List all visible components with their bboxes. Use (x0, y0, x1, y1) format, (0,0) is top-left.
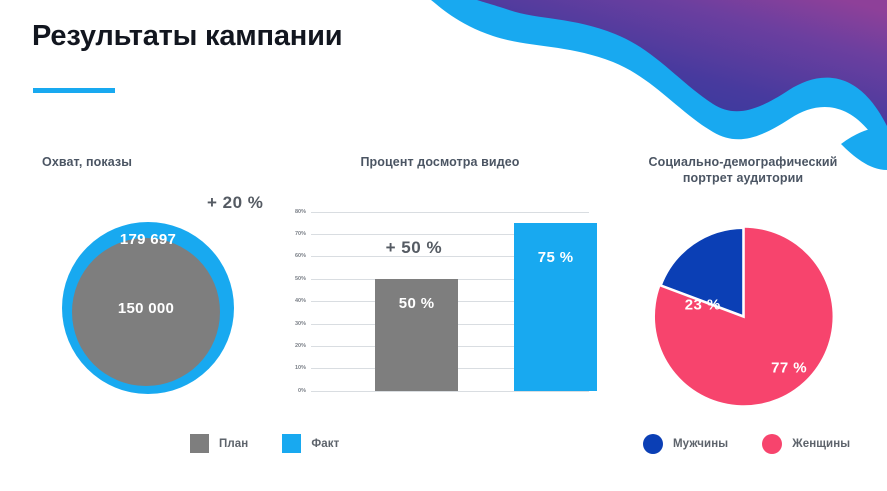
y-tick-label: 20% (295, 343, 306, 349)
legend-gender: Мужчины Женщины (643, 434, 850, 454)
legend-item-plan[interactable]: План (190, 434, 248, 453)
wave-decoration (417, 0, 887, 170)
y-tick-label: 30% (295, 321, 306, 327)
chart-title-demographics-line1: Социально-демографический (599, 155, 887, 171)
y-tick-label: 40% (295, 298, 306, 304)
bar-plot-area: 80% 70% 60% 50% 40% 30% (311, 212, 589, 391)
gridline: 80% (311, 212, 589, 213)
legend-swatch-female-icon (762, 434, 782, 454)
chart-panel-demographics: Социально-демографический портрет аудито… (599, 155, 887, 475)
pie-chart-demographics: 23 % 77 % (599, 212, 887, 437)
y-tick-label: 80% (295, 209, 306, 215)
bar-plan: 50 % (375, 279, 458, 391)
legend-label-female: Женщины (792, 438, 850, 450)
legend-item-male[interactable]: Мужчины (643, 434, 728, 454)
y-tick-label: 70% (295, 231, 306, 237)
chart-panel-view-rate: Процент досмотра видео 80% 70% 60% 50% (281, 155, 599, 475)
gridline-baseline: 0% (311, 391, 589, 392)
pie-label-female: 77 % (771, 359, 807, 376)
bar-plan-value: 50 % (375, 295, 458, 312)
delta-annotation-view-rate: + 50 % (386, 238, 442, 258)
legend-swatch-fact-icon (282, 434, 301, 453)
delta-annotation-reach: + 20 % (207, 193, 263, 213)
chart-title-demographics-line2: портрет аудитории (599, 171, 887, 187)
wave-gradient-blob (477, 0, 887, 126)
legend-item-female[interactable]: Женщины (762, 434, 850, 454)
bar-fact-value: 75 % (514, 249, 597, 266)
legend-plan-fact: План Факт (190, 434, 339, 453)
legend-item-fact[interactable]: Факт (282, 434, 339, 453)
bubble-fact-value: 179 697 (62, 231, 234, 248)
legend-label-male: Мужчины (673, 438, 728, 450)
legend-swatch-plan-icon (190, 434, 209, 453)
bubble-plan-value: 150 000 (72, 300, 220, 317)
title-underline-rule (33, 88, 115, 93)
legend-label-plan: План (219, 438, 248, 450)
page-title: Результаты кампании (32, 20, 342, 53)
bar-fact: 75 % (514, 223, 597, 391)
chart-title-demographics: Социально-демографический портрет аудито… (599, 155, 887, 186)
bar-chart-view-rate: 80% 70% 60% 50% 40% 30% (281, 193, 599, 418)
pie-label-male: 23 % (685, 296, 721, 313)
legend-swatch-male-icon (643, 434, 663, 454)
chart-title-view-rate: Процент досмотра видео (281, 155, 599, 171)
y-tick-label: 10% (295, 365, 306, 371)
charts-row: Охват, показы + 20 % 179 697 150 000 Про… (0, 155, 887, 475)
y-tick-label: 50% (295, 276, 306, 282)
chart-title-reach: Охват, показы (0, 155, 281, 171)
legend-label-fact: Факт (311, 438, 339, 450)
slide-canvas: Результаты кампании Охват, показы + 20 %… (0, 0, 887, 491)
y-tick-label: 0% (298, 388, 306, 394)
wave-cyan-layer (431, 0, 887, 160)
chart-panel-reach: Охват, показы + 20 % 179 697 150 000 (0, 155, 281, 475)
y-tick-label: 60% (295, 253, 306, 259)
bubble-chart-reach: + 20 % 179 697 150 000 (0, 193, 281, 418)
